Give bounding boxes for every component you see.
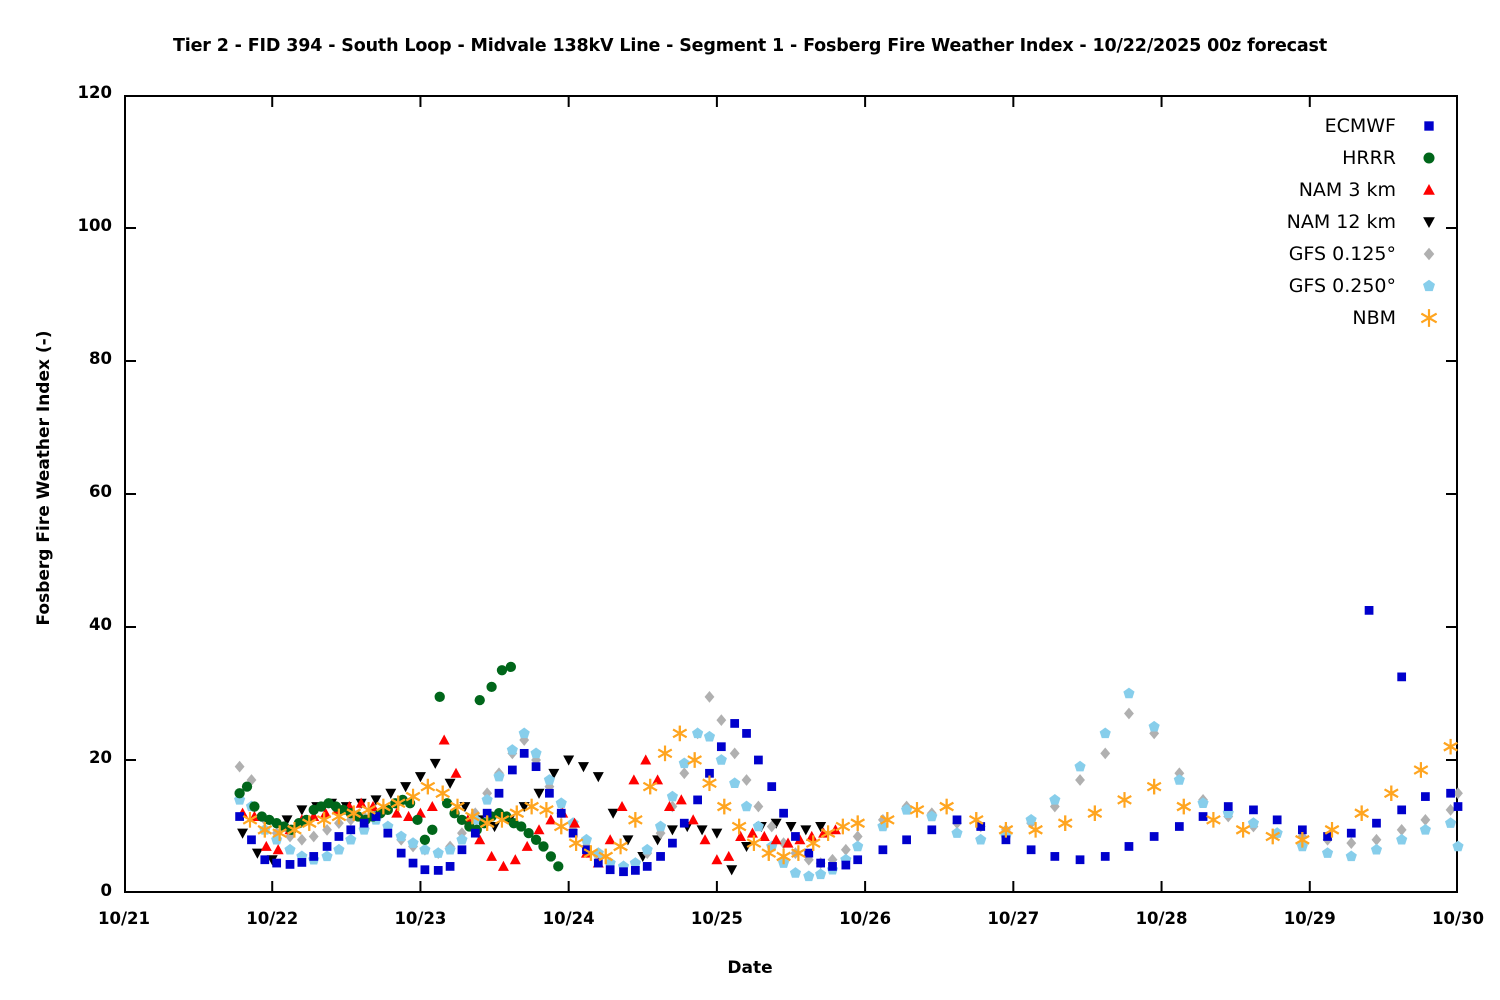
data-point bbox=[841, 861, 850, 870]
series-ecmwf bbox=[235, 719, 1462, 876]
data-point bbox=[879, 845, 888, 854]
data-point bbox=[1224, 802, 1233, 811]
data-point bbox=[1076, 855, 1085, 864]
data-point bbox=[1074, 761, 1085, 772]
data-point bbox=[1385, 786, 1398, 802]
legend-label: HRRR bbox=[1342, 147, 1418, 169]
data-point bbox=[1421, 792, 1430, 801]
data-point bbox=[569, 835, 582, 851]
data-point bbox=[439, 734, 450, 744]
legend-label: NAM 3 km bbox=[1299, 179, 1418, 201]
data-point bbox=[953, 815, 962, 824]
data-point bbox=[828, 862, 837, 871]
data-point bbox=[1454, 802, 1463, 811]
data-point bbox=[446, 862, 455, 871]
data-point bbox=[546, 851, 556, 861]
data-point bbox=[679, 767, 689, 779]
data-point bbox=[790, 867, 801, 878]
data-point bbox=[656, 852, 665, 861]
data-point bbox=[1249, 806, 1258, 815]
legend-label: ECMWF bbox=[1325, 115, 1418, 137]
data-point bbox=[1273, 815, 1282, 824]
data-point bbox=[433, 847, 444, 858]
data-point bbox=[617, 801, 628, 811]
data-point bbox=[704, 731, 715, 742]
data-point bbox=[507, 744, 518, 755]
data-point bbox=[556, 797, 567, 808]
data-point bbox=[534, 789, 545, 799]
data-point bbox=[803, 871, 814, 882]
data-point bbox=[538, 841, 548, 851]
data-point bbox=[688, 752, 701, 768]
data-point bbox=[563, 756, 574, 766]
data-point bbox=[717, 742, 726, 751]
data-point bbox=[1101, 852, 1110, 861]
data-point bbox=[435, 692, 445, 702]
data-point bbox=[726, 865, 737, 875]
data-point bbox=[668, 839, 677, 848]
data-point bbox=[680, 819, 689, 828]
data-point bbox=[1050, 852, 1059, 861]
data-point bbox=[1445, 817, 1456, 828]
data-point bbox=[815, 869, 826, 880]
data-point bbox=[735, 831, 746, 841]
data-point bbox=[852, 841, 863, 852]
data-point bbox=[667, 791, 678, 802]
data-point bbox=[767, 782, 776, 791]
data-point bbox=[297, 858, 306, 867]
x-tick-label: 10/22 bbox=[212, 909, 332, 928]
data-point bbox=[1100, 728, 1111, 739]
data-point bbox=[445, 779, 456, 789]
data-point bbox=[419, 844, 430, 855]
data-point bbox=[471, 829, 480, 838]
data-point bbox=[519, 728, 530, 739]
data-point bbox=[606, 865, 615, 874]
data-point bbox=[273, 844, 284, 854]
data-point bbox=[242, 781, 252, 791]
data-point bbox=[415, 772, 426, 782]
data-point bbox=[323, 842, 332, 851]
data-point bbox=[400, 782, 411, 792]
data-point bbox=[412, 815, 422, 825]
data-point bbox=[309, 831, 319, 843]
legend-item-nam-12-km[interactable]: NAM 12 km bbox=[1180, 206, 1440, 238]
data-point bbox=[407, 837, 418, 848]
data-point bbox=[927, 825, 936, 834]
data-point bbox=[742, 729, 751, 738]
x-axis-label: Date bbox=[0, 958, 1500, 978]
data-point bbox=[1100, 747, 1110, 759]
data-point bbox=[297, 834, 307, 846]
legend-label: GFS 0.250° bbox=[1289, 275, 1418, 297]
data-point bbox=[791, 832, 800, 841]
legend-glyph bbox=[1423, 152, 1434, 163]
data-point bbox=[420, 835, 430, 845]
legend-marker-triangle-up-icon bbox=[1418, 179, 1440, 201]
data-point bbox=[1371, 844, 1382, 855]
data-point bbox=[631, 866, 640, 875]
data-point bbox=[688, 814, 699, 824]
x-tick-label: 10/26 bbox=[805, 909, 925, 928]
data-point bbox=[910, 802, 923, 818]
data-point bbox=[730, 747, 740, 759]
data-point bbox=[700, 834, 711, 844]
data-point bbox=[346, 825, 355, 834]
y-axis-label: Fosberg Fire Weather Index (-) bbox=[34, 248, 54, 708]
data-point bbox=[853, 855, 862, 864]
data-point bbox=[1444, 739, 1457, 755]
data-point bbox=[667, 825, 678, 835]
data-point bbox=[247, 835, 256, 844]
data-point bbox=[1452, 841, 1463, 852]
legend-marker-circle-icon bbox=[1418, 147, 1440, 169]
data-point bbox=[742, 774, 752, 786]
data-point bbox=[260, 855, 269, 864]
legend-marker-asterisk-icon bbox=[1418, 307, 1440, 329]
y-tick-label: 120 bbox=[12, 83, 112, 102]
x-tick-label: 10/24 bbox=[509, 909, 629, 928]
legend-item-gfs-0-250[interactable]: GFS 0.250° bbox=[1180, 270, 1440, 302]
data-point bbox=[530, 747, 541, 758]
data-point bbox=[1355, 805, 1368, 821]
data-point bbox=[1347, 829, 1356, 838]
data-point bbox=[557, 809, 566, 818]
data-point bbox=[409, 859, 418, 868]
data-point bbox=[510, 854, 521, 864]
data-point bbox=[237, 829, 248, 839]
y-tick-label: 60 bbox=[12, 482, 112, 501]
legend-label: NBM bbox=[1352, 307, 1418, 329]
data-point bbox=[718, 799, 731, 815]
data-point bbox=[427, 825, 437, 835]
data-point bbox=[771, 834, 782, 844]
data-point bbox=[451, 768, 462, 778]
data-point bbox=[1118, 792, 1131, 808]
data-point bbox=[800, 825, 811, 835]
data-point bbox=[1175, 822, 1184, 831]
data-point bbox=[321, 851, 332, 862]
legend-marker-triangle-down-icon bbox=[1418, 211, 1440, 233]
data-point bbox=[786, 822, 797, 832]
data-point-outlier bbox=[506, 662, 516, 672]
legend-glyph bbox=[1424, 248, 1435, 261]
legend-marker-pentagon-icon bbox=[1418, 275, 1440, 297]
data-point bbox=[1446, 789, 1455, 798]
data-point bbox=[261, 841, 272, 851]
legend-item-nam-3-km[interactable]: NAM 3 km bbox=[1180, 174, 1440, 206]
series-gfs-0-125 bbox=[235, 691, 1463, 872]
data-point bbox=[1346, 851, 1357, 862]
data-point bbox=[673, 726, 686, 742]
legend-item-gfs-0-125[interactable]: GFS 0.125° bbox=[1180, 238, 1440, 270]
data-point bbox=[456, 834, 467, 845]
data-point bbox=[697, 825, 708, 835]
data-point bbox=[640, 754, 651, 764]
data-point bbox=[1236, 822, 1249, 838]
data-point bbox=[434, 866, 443, 875]
legend-glyph bbox=[1423, 217, 1435, 228]
data-point bbox=[333, 844, 344, 855]
data-point bbox=[498, 861, 509, 871]
legend-marker-square-icon bbox=[1418, 115, 1440, 137]
data-point bbox=[534, 824, 545, 834]
legend-marker-diamond-icon bbox=[1418, 243, 1440, 265]
data-point bbox=[1420, 824, 1431, 835]
data-point bbox=[614, 839, 627, 855]
data-point bbox=[508, 766, 517, 775]
x-tick-label: 10/30 bbox=[1398, 909, 1500, 928]
y-tick-label: 80 bbox=[12, 349, 112, 368]
legend-glyph bbox=[1423, 280, 1435, 291]
data-point bbox=[360, 819, 369, 828]
data-point bbox=[482, 794, 493, 805]
data-point bbox=[711, 854, 722, 864]
data-point bbox=[693, 796, 702, 805]
data-point bbox=[1346, 837, 1356, 849]
data-point bbox=[1174, 774, 1185, 785]
data-point bbox=[658, 746, 671, 762]
legend-item-nbm[interactable]: NBM bbox=[1180, 302, 1440, 334]
data-point bbox=[729, 777, 740, 788]
data-point bbox=[309, 852, 318, 861]
data-point bbox=[1147, 779, 1160, 795]
data-point bbox=[383, 829, 392, 838]
data-point bbox=[1125, 842, 1134, 851]
data-point bbox=[716, 714, 726, 726]
data-point bbox=[296, 805, 307, 815]
x-tick-label: 10/23 bbox=[360, 909, 480, 928]
legend-item-ecmwf[interactable]: ECMWF bbox=[1180, 110, 1440, 142]
data-point bbox=[1150, 832, 1159, 841]
data-point bbox=[951, 827, 962, 838]
legend-item-hrrr[interactable]: HRRR bbox=[1180, 142, 1440, 174]
legend-label: GFS 0.125° bbox=[1289, 243, 1418, 265]
data-point bbox=[249, 801, 259, 811]
data-point bbox=[286, 860, 295, 869]
data-point bbox=[1397, 806, 1406, 815]
data-point bbox=[1027, 845, 1036, 854]
data-point bbox=[1059, 815, 1072, 831]
chart-legend: ECMWFHRRRNAM 3 kmNAM 12 kmGFS 0.125°GFS … bbox=[1180, 110, 1440, 334]
data-point bbox=[553, 861, 563, 871]
data-point-outlier bbox=[475, 695, 485, 705]
data-point-outlier bbox=[1397, 673, 1406, 682]
data-point bbox=[711, 829, 722, 839]
data-point bbox=[902, 835, 911, 844]
data-point bbox=[851, 815, 864, 831]
data-point bbox=[1124, 708, 1134, 720]
data-point bbox=[1049, 794, 1060, 805]
data-point bbox=[495, 789, 504, 798]
data-point bbox=[940, 799, 953, 815]
data-point bbox=[235, 761, 245, 773]
data-point bbox=[642, 844, 653, 855]
data-point bbox=[804, 849, 813, 858]
data-point bbox=[345, 834, 356, 845]
x-tick-label: 10/25 bbox=[657, 909, 777, 928]
data-point bbox=[975, 834, 986, 845]
data-point bbox=[397, 849, 406, 858]
data-point bbox=[723, 851, 734, 861]
data-point bbox=[779, 809, 788, 818]
data-point bbox=[545, 789, 554, 798]
data-point bbox=[235, 812, 244, 821]
data-point bbox=[1199, 812, 1208, 821]
y-tick-label: 40 bbox=[12, 615, 112, 634]
x-tick-label: 10/29 bbox=[1250, 909, 1370, 928]
data-point bbox=[619, 867, 628, 876]
data-point bbox=[421, 779, 434, 795]
x-tick-label: 10/28 bbox=[1102, 909, 1222, 928]
data-point bbox=[458, 845, 467, 854]
x-tick-label: 10/21 bbox=[64, 909, 184, 928]
data-point bbox=[643, 862, 652, 871]
data-point bbox=[692, 728, 703, 739]
data-point bbox=[732, 819, 745, 835]
data-point bbox=[430, 759, 441, 769]
x-tick-label: 10/27 bbox=[953, 909, 1073, 928]
data-point bbox=[1207, 812, 1220, 828]
y-tick-label: 100 bbox=[12, 216, 112, 235]
data-point bbox=[730, 719, 739, 728]
series-hrrr bbox=[234, 692, 563, 872]
data-point bbox=[716, 754, 727, 765]
data-point-outlier bbox=[1365, 606, 1374, 615]
data-point bbox=[705, 691, 715, 703]
data-point bbox=[1414, 762, 1427, 778]
data-point bbox=[1177, 799, 1190, 815]
data-point bbox=[1075, 774, 1085, 786]
legend-glyph bbox=[1421, 309, 1436, 327]
y-tick-label: 20 bbox=[12, 748, 112, 767]
data-point bbox=[741, 801, 752, 812]
data-point bbox=[629, 812, 642, 828]
data-point bbox=[489, 822, 500, 832]
data-point bbox=[272, 859, 281, 868]
data-point bbox=[520, 749, 529, 758]
data-point bbox=[1372, 819, 1381, 828]
data-point bbox=[486, 851, 497, 861]
legend-glyph bbox=[1424, 121, 1433, 130]
data-point bbox=[628, 774, 639, 784]
data-point bbox=[421, 865, 430, 874]
data-point bbox=[652, 774, 663, 784]
data-point bbox=[578, 762, 589, 772]
legend-glyph bbox=[1423, 184, 1435, 195]
data-point bbox=[1396, 834, 1407, 845]
data-point-outlier bbox=[486, 682, 496, 692]
outlier-points bbox=[475, 606, 1406, 705]
data-point bbox=[703, 776, 716, 792]
legend-label: NAM 12 km bbox=[1287, 211, 1418, 233]
data-point bbox=[522, 841, 533, 851]
data-point bbox=[335, 832, 344, 841]
data-point bbox=[284, 844, 295, 855]
data-point bbox=[593, 772, 604, 782]
data-point bbox=[1088, 805, 1101, 821]
data-point bbox=[753, 801, 763, 813]
data-point bbox=[532, 762, 541, 771]
data-point bbox=[385, 789, 396, 799]
data-point bbox=[427, 801, 438, 811]
data-point bbox=[655, 821, 666, 832]
data-point bbox=[555, 819, 568, 835]
chart-page: Tier 2 - FID 394 - South Loop - Midvale … bbox=[0, 0, 1500, 1000]
data-point bbox=[816, 859, 825, 868]
data-point bbox=[396, 831, 407, 842]
data-point bbox=[1149, 721, 1160, 732]
data-point bbox=[1322, 847, 1333, 858]
data-point-outlier bbox=[497, 665, 507, 675]
y-tick-label: 0 bbox=[12, 881, 112, 900]
data-point bbox=[754, 756, 763, 765]
data-point bbox=[741, 842, 752, 852]
data-point bbox=[1123, 688, 1134, 699]
